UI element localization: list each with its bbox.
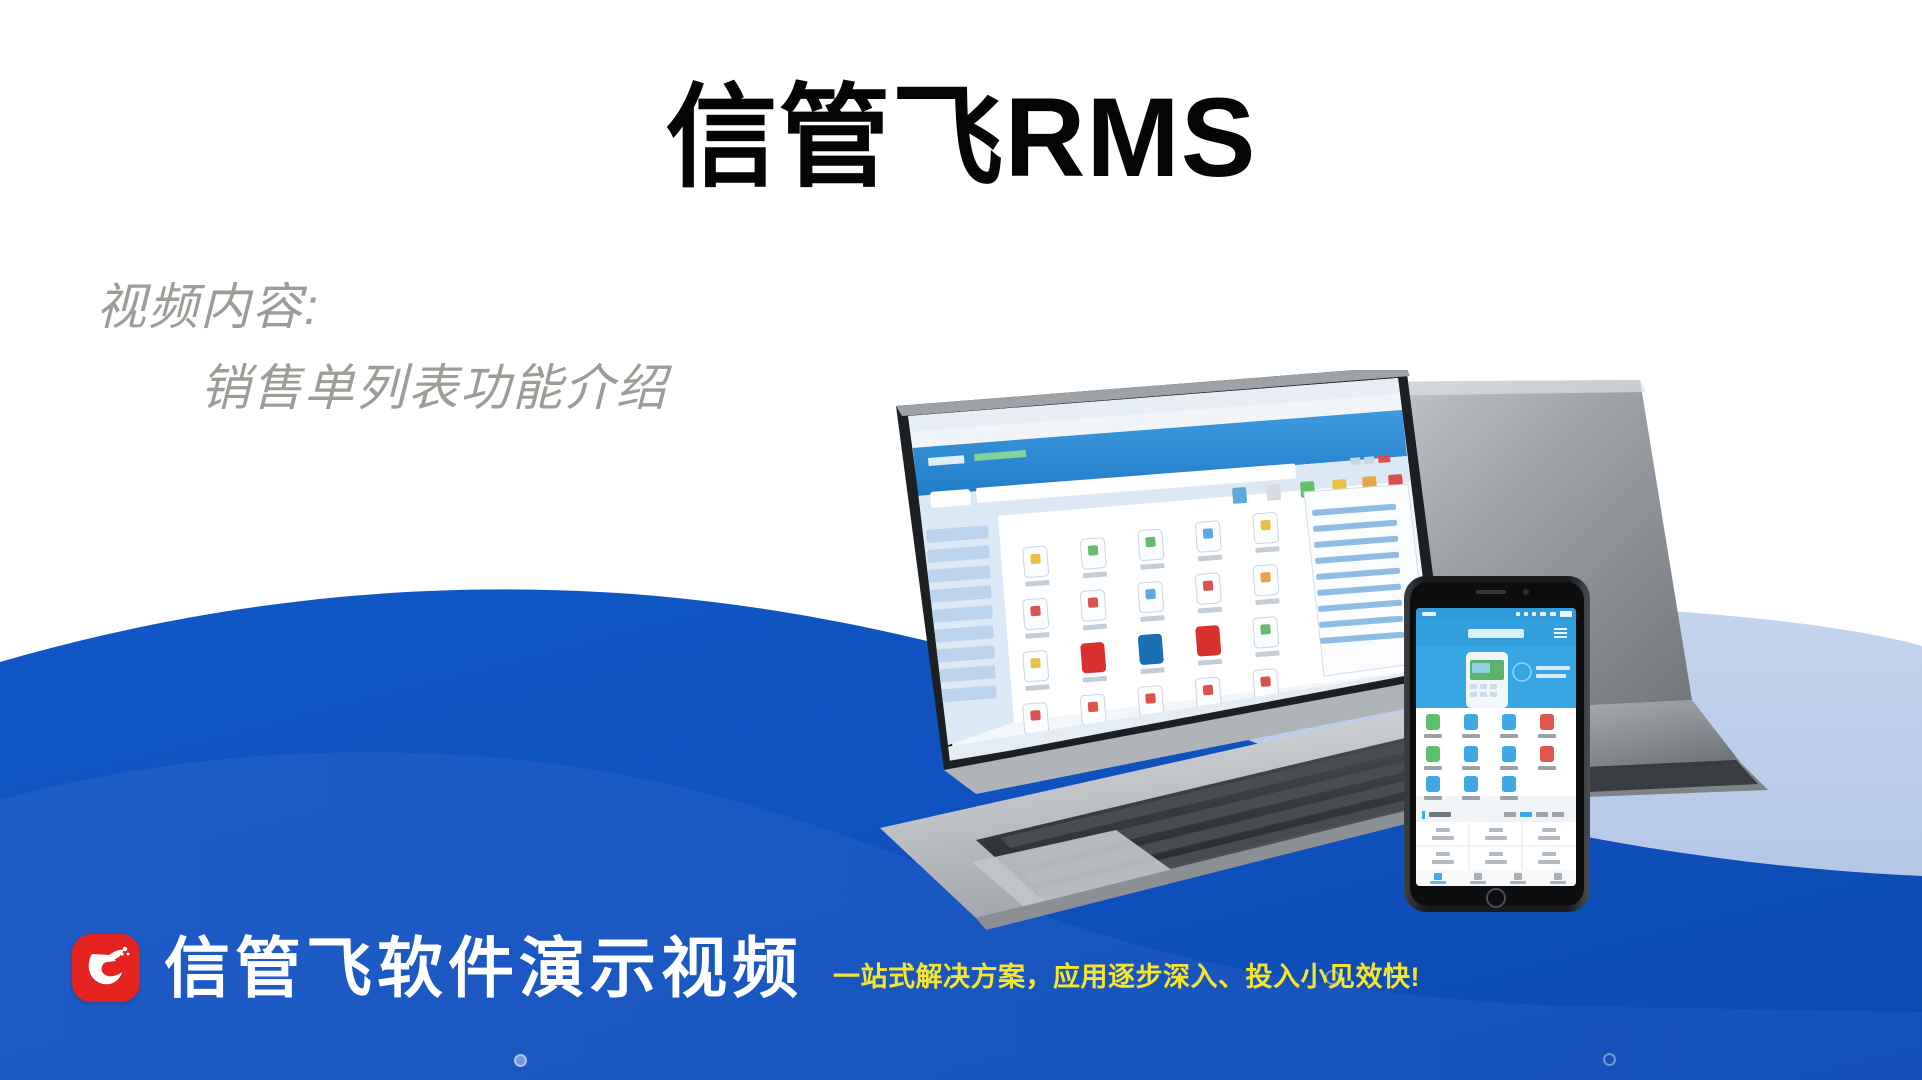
smartphone xyxy=(1404,576,1590,912)
brand-bar: 信管飞软件演示视频 一站式解决方案，应用逐步深入、投入小见效快! xyxy=(72,934,1420,1002)
page-title: 信管飞RMS xyxy=(0,78,1922,199)
video-content-topic: 销售单列表功能介绍 xyxy=(200,359,668,418)
hamburger-icon xyxy=(1554,628,1567,638)
brand-tagline: 一站式解决方案，应用逐步深入、投入小见效快! xyxy=(833,955,1420,1002)
phone-screen-app xyxy=(1416,608,1576,886)
decorative-bubble xyxy=(514,1054,527,1067)
video-content-label: 视频内容: xyxy=(96,278,668,337)
decorative-bubble xyxy=(1603,1053,1616,1066)
brand-name: 信管飞软件演示视频 xyxy=(164,935,803,1001)
device-photo-group xyxy=(880,370,1922,930)
slide-root: 信管飞RMS 视频内容: 销售单列表功能介绍 xyxy=(0,0,1922,1080)
subtitle-block: 视频内容: 销售单列表功能介绍 xyxy=(96,278,668,418)
xinguanfei-logo-icon xyxy=(72,934,140,1002)
